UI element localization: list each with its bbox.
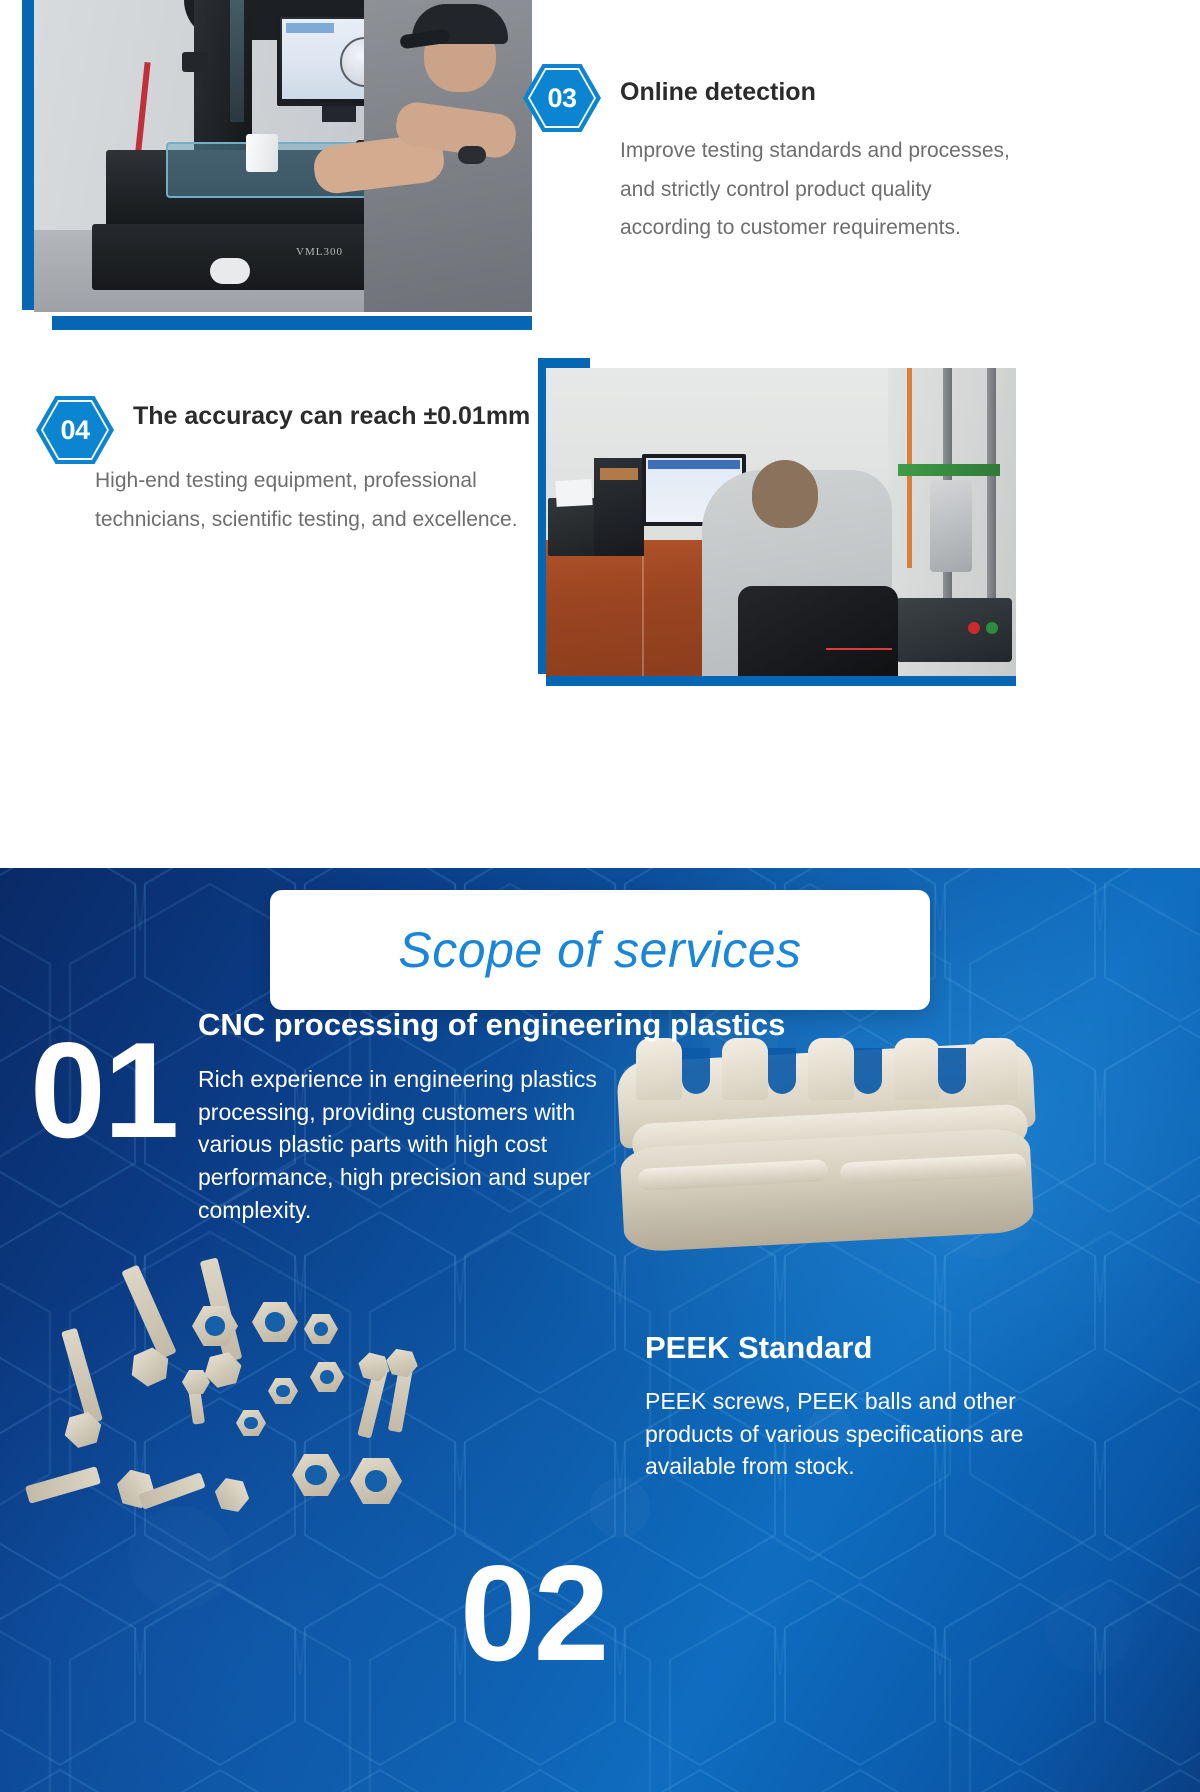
feature-image-frame-03: VML300 — [22, 0, 532, 330]
scope-heading: Scope of services — [398, 921, 801, 979]
photo-online-detection: VML300 — [34, 0, 532, 312]
service-title-02: PEEK Standard — [645, 1330, 1085, 1366]
feature-image-frame-04 — [538, 358, 1016, 686]
feature-body-03: Improve testing standards and processes,… — [620, 132, 1020, 249]
scope-title-card: Scope of services — [270, 890, 930, 1010]
feature-title-04: The accuracy can reach ±0.01mm — [133, 400, 533, 434]
service-body-01: Rich experience in engineering plastics … — [198, 1063, 598, 1226]
feature-number-03: 03 — [523, 64, 601, 132]
service-number-01: 01 — [30, 1022, 177, 1158]
scope-of-services-section: Scope of services — [0, 868, 1200, 1792]
frame-accent-bottom — [52, 316, 532, 330]
frame-accent-bottom — [546, 676, 1016, 686]
feature-body-04: High-end testing equipment, professional… — [95, 462, 525, 540]
image-peek-conveyor-belt — [612, 1018, 1042, 1268]
features-section: VML300 03 Online detection Improve testi… — [0, 0, 1200, 868]
feature-number-04: 04 — [36, 396, 114, 464]
photo-accuracy-testing — [546, 368, 1016, 676]
feature-badge-03: 03 — [523, 64, 601, 132]
feature-text-03: Online detection Improve testing standar… — [620, 76, 1020, 248]
service-title-01: CNC processing of engineering plastics — [198, 1007, 938, 1043]
feature-title-03: Online detection — [620, 76, 1020, 110]
service-body-02: PEEK screws, PEEK balls and other produc… — [645, 1385, 1045, 1483]
service-number-02: 02 — [460, 1545, 607, 1681]
feature-badge-04: 04 — [36, 396, 114, 464]
image-peek-screws — [44, 1258, 464, 1528]
feature-text-04: The accuracy can reach ±0.01mm High-end … — [133, 400, 533, 539]
